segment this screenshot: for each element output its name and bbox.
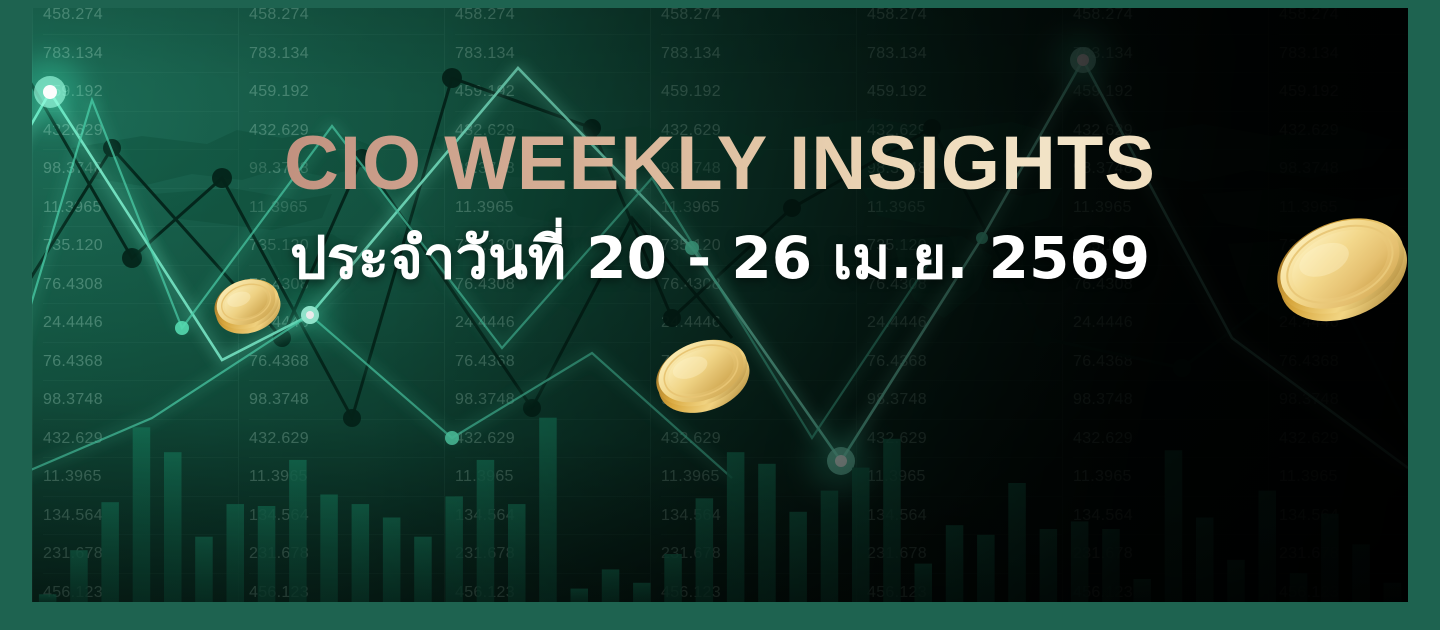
bar [915, 564, 933, 602]
bar [789, 512, 807, 602]
bar [101, 502, 119, 602]
bar [821, 491, 839, 602]
bar [1321, 514, 1339, 602]
bar [414, 537, 432, 602]
banner-artboard: 458.274783.134459.192432.62998.374811.39… [32, 8, 1408, 602]
bar [39, 594, 57, 602]
bar [602, 569, 620, 602]
glow-node-mid-left [286, 291, 334, 339]
bar [1071, 521, 1089, 602]
bar [195, 537, 213, 602]
bar [289, 460, 307, 602]
bar [352, 504, 370, 602]
bar [758, 464, 776, 602]
bar [633, 583, 651, 602]
bar [508, 504, 526, 602]
bar [539, 418, 557, 602]
bar [445, 496, 463, 602]
bar [133, 427, 151, 602]
bar [258, 506, 276, 602]
bar [1165, 450, 1183, 602]
bar [227, 504, 245, 602]
bar [1102, 529, 1120, 602]
bar [696, 498, 714, 602]
bar [320, 495, 338, 603]
bar [1133, 579, 1151, 602]
bar [1196, 518, 1214, 603]
bar [977, 535, 995, 602]
bar [1290, 573, 1308, 602]
bar [946, 525, 964, 602]
bar [883, 439, 901, 602]
bar [1227, 560, 1245, 602]
bar [1352, 544, 1370, 602]
bar [571, 589, 589, 602]
bar [477, 460, 495, 602]
bar [1384, 583, 1402, 602]
glow-node-right-peak [1053, 30, 1113, 90]
bar [1008, 483, 1026, 602]
bar [1259, 491, 1277, 602]
bar [383, 518, 401, 603]
glow-node-left-peak [32, 58, 84, 126]
bar [1040, 529, 1058, 602]
cio-weekly-insights-banner: 458.274783.134459.192432.62998.374811.39… [0, 0, 1440, 630]
headline-block: CIO WEEKLY INSIGHTS ประจำวันที่ 20 - 26 … [32, 126, 1408, 289]
page-title: CIO WEEKLY INSIGHTS [278, 126, 1162, 202]
bar [664, 554, 682, 602]
bar [852, 468, 870, 602]
bar [164, 452, 182, 602]
volume-bar-chart [32, 402, 1408, 602]
bar [727, 452, 745, 602]
bar [70, 550, 88, 602]
